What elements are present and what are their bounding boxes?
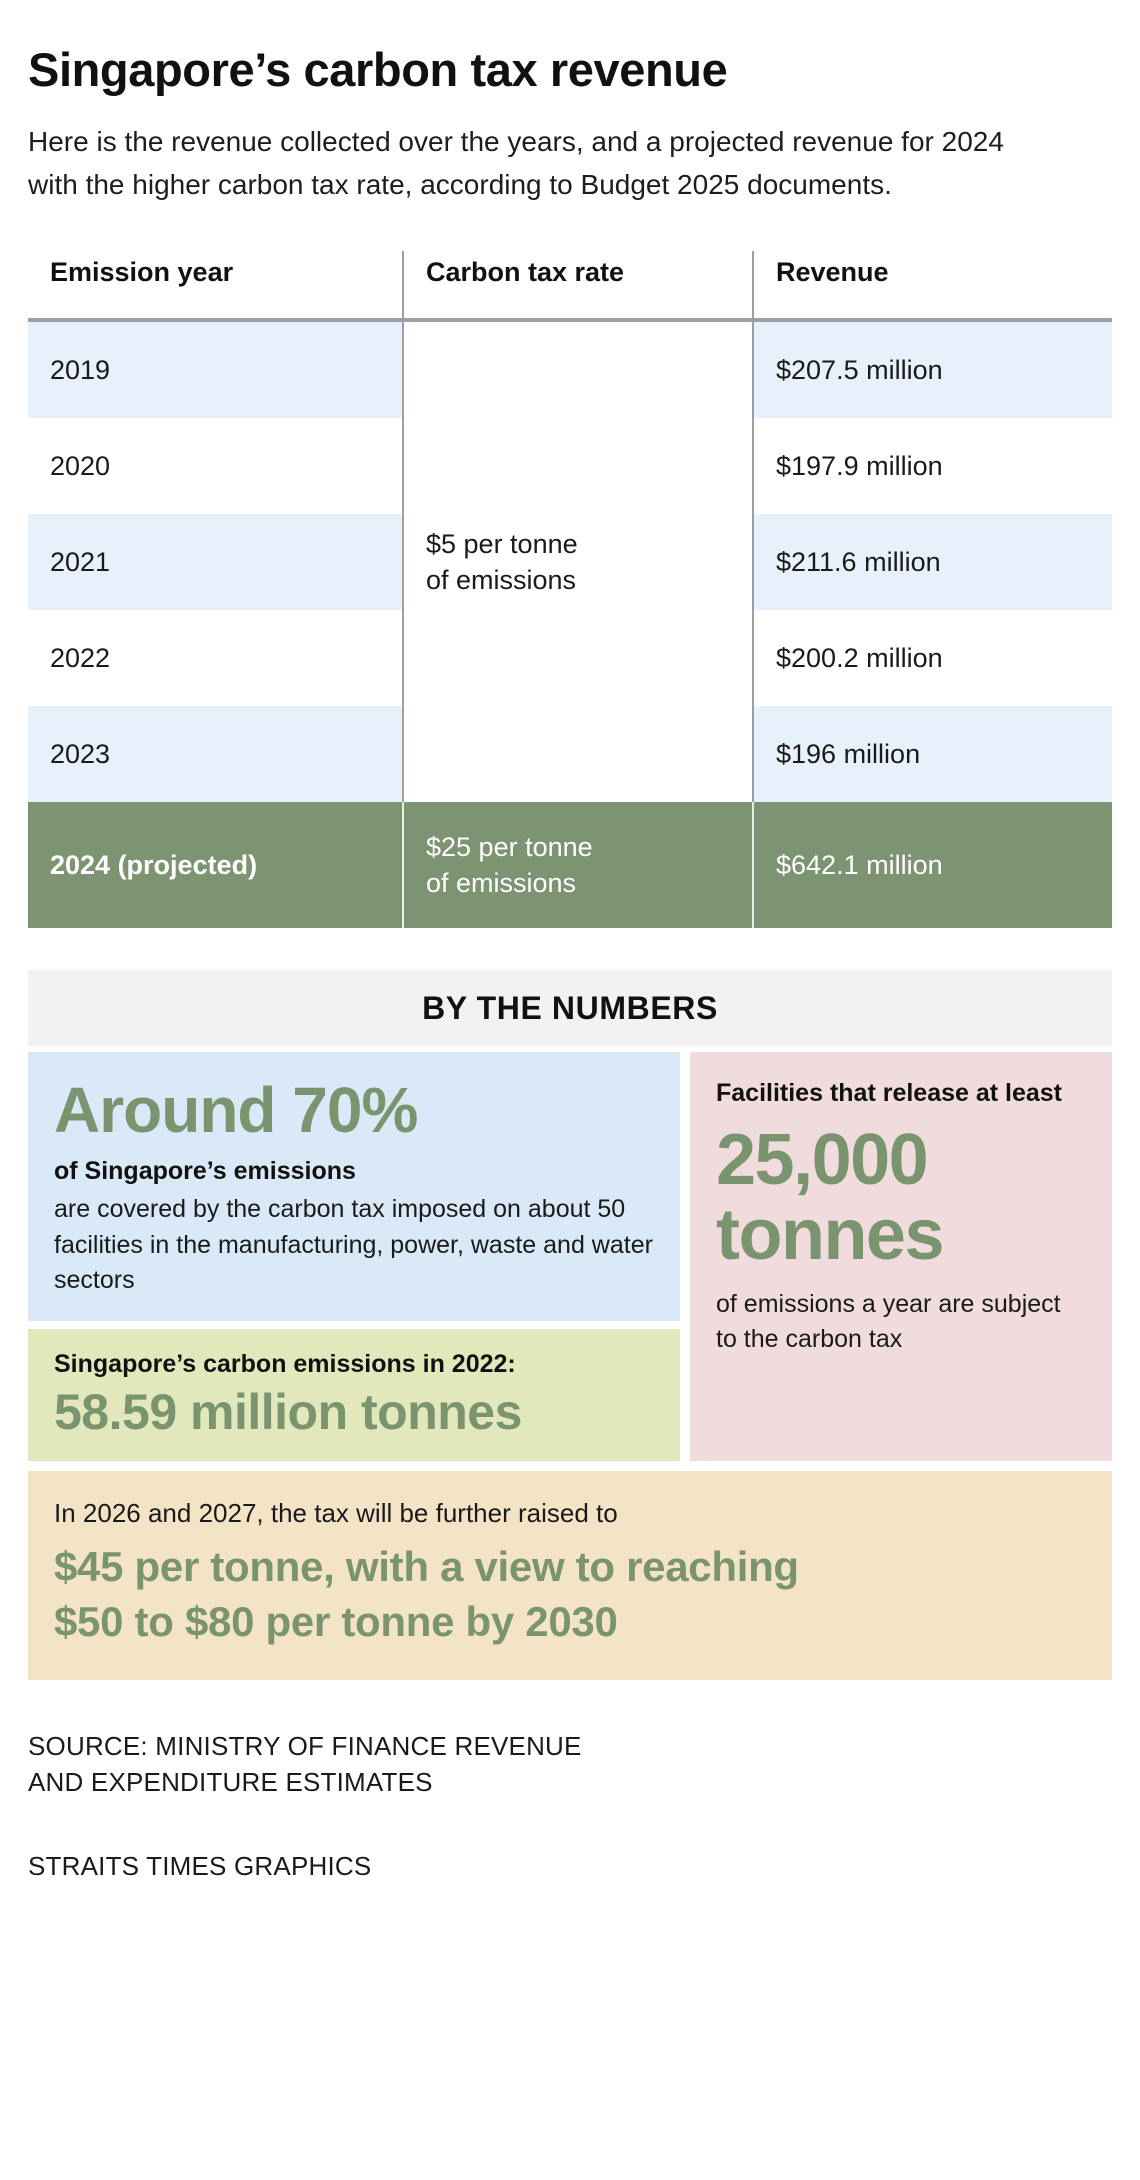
page-standfirst: Here is the revenue collected over the y… bbox=[28, 96, 1038, 207]
stat-coverage-body: are covered by the carbon tax imposed on… bbox=[54, 1192, 654, 1299]
rate-line-2: of emissions bbox=[426, 865, 752, 901]
table-header-row: Emission year Carbon tax rate Revenue bbox=[28, 251, 1112, 320]
by-the-numbers-label: BY THE NUMBERS bbox=[422, 990, 718, 1027]
source-line-1: SOURCE: MINISTRY OF FINANCE REVENUE bbox=[28, 1728, 1112, 1765]
cell-revenue: $196 million bbox=[753, 706, 1112, 802]
cell-emission-year-projected: 2024 (projected) bbox=[28, 802, 403, 928]
revenue-table-wrapper: Emission year Carbon tax rate Revenue 20… bbox=[28, 251, 1112, 928]
stat-emissions-value: 58.59 million tonnes bbox=[54, 1385, 654, 1439]
column-header-revenue: Revenue bbox=[753, 251, 1112, 320]
cell-carbon-tax-rate-projected: $25 per tonne of emissions bbox=[403, 802, 753, 928]
column-header-carbon-tax-rate: Carbon tax rate bbox=[403, 251, 753, 320]
footer: SOURCE: MINISTRY OF FINANCE REVENUE AND … bbox=[28, 1728, 1112, 1883]
cell-emission-year: 2022 bbox=[28, 610, 403, 706]
page-title: Singapore’s carbon tax revenue bbox=[28, 0, 1112, 96]
stat-panel-future-rates: In 2026 and 2027, the tax will be furthe… bbox=[28, 1471, 1112, 1680]
cell-revenue: $197.9 million bbox=[753, 418, 1112, 514]
cell-revenue: $211.6 million bbox=[753, 514, 1112, 610]
cell-emission-year: 2020 bbox=[28, 418, 403, 514]
cell-emission-year: 2019 bbox=[28, 320, 403, 418]
table-row: 2019 $5 per tonne of emissions $207.5 mi… bbox=[28, 320, 1112, 418]
cell-revenue: $200.2 million bbox=[753, 610, 1112, 706]
table-row-projected: 2024 (projected) $25 per tonne of emissi… bbox=[28, 802, 1112, 928]
future-rates-intro: In 2026 and 2027, the tax will be furthe… bbox=[54, 1497, 1086, 1531]
cell-revenue-projected: $642.1 million bbox=[753, 802, 1112, 928]
rate-line-1: $5 per tonne bbox=[426, 526, 752, 562]
stats-left-column: Around 70% of Singapore’s emissions are … bbox=[28, 1052, 680, 1461]
source-line-2: AND EXPENDITURE ESTIMATES bbox=[28, 1764, 1112, 1801]
future-rates-line2: $50 to $80 per tonne by 2030 bbox=[54, 1595, 1086, 1650]
stats-right-column: Facilities that release at least 25,000 … bbox=[690, 1052, 1112, 1461]
cell-emission-year: 2021 bbox=[28, 514, 403, 610]
stat-panel-coverage: Around 70% of Singapore’s emissions are … bbox=[28, 1052, 680, 1321]
future-rates-line1: $45 per tonne, with a view to reaching bbox=[54, 1540, 1086, 1595]
stat-panel-threshold: Facilities that release at least 25,000 … bbox=[690, 1052, 1112, 1461]
stat-threshold-head: Facilities that release at least bbox=[716, 1078, 1088, 1109]
stat-emissions-lead: Singapore’s carbon emissions in 2022: bbox=[54, 1349, 654, 1379]
stat-threshold-foot: of emissions a year are subject to the c… bbox=[716, 1287, 1088, 1356]
cell-carbon-tax-rate-group: $5 per tonne of emissions bbox=[403, 320, 753, 802]
rate-line-1: $25 per tonne bbox=[426, 829, 752, 865]
column-header-emission-year: Emission year bbox=[28, 251, 403, 320]
stat-coverage-value: Around 70% bbox=[54, 1078, 654, 1142]
by-the-numbers-band: BY THE NUMBERS bbox=[28, 970, 1112, 1046]
cell-emission-year: 2023 bbox=[28, 706, 403, 802]
stat-threshold-value-line2: tonnes bbox=[716, 1198, 1088, 1273]
rate-line-2: of emissions bbox=[426, 562, 752, 598]
graphics-credit: STRAITS TIMES GRAPHICS bbox=[28, 1851, 1112, 1882]
revenue-table: Emission year Carbon tax rate Revenue 20… bbox=[28, 251, 1112, 928]
stat-threshold-value-line1: 25,000 bbox=[716, 1123, 1088, 1198]
infographic-page: Singapore’s carbon tax revenue Here is t… bbox=[0, 0, 1140, 2180]
stat-coverage-lead: of Singapore’s emissions bbox=[54, 1156, 654, 1186]
stats-grid: Around 70% of Singapore’s emissions are … bbox=[28, 1052, 1112, 1461]
cell-revenue: $207.5 million bbox=[753, 320, 1112, 418]
stat-panel-emissions: Singapore’s carbon emissions in 2022: 58… bbox=[28, 1329, 680, 1461]
